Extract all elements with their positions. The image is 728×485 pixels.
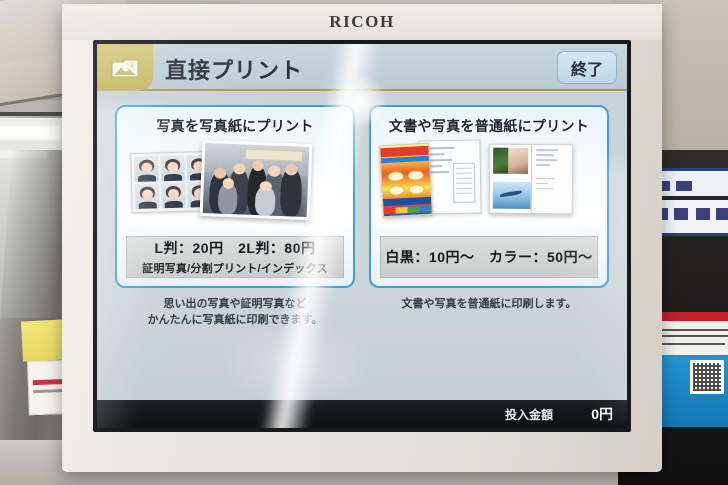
- monitor-screen-bezel: 直接プリント 終了 写真を写真紙にプリント: [93, 40, 631, 432]
- option-description-plain-paper: 文書や写真を普通紙に印刷します。: [369, 297, 609, 313]
- document-table-box: [453, 163, 476, 203]
- background-fluorescent-light: [0, 126, 60, 140]
- open-magazine-image: [489, 144, 574, 215]
- group-photo-image: [200, 140, 313, 220]
- price-secondary: 証明写真/分割プリント/インデックス: [142, 260, 327, 276]
- sign-text-line: [657, 335, 728, 337]
- touchscreen-display[interactable]: 直接プリント 終了 写真を写真紙にプリント: [97, 44, 627, 428]
- ricoh-logo: RICOH: [329, 12, 395, 32]
- id-photo-cell: [160, 156, 185, 182]
- option-title: 文書や写真を普通紙にプリント: [389, 116, 589, 136]
- option-column-photo-paper: 写真を写真紙にプリント: [115, 105, 355, 400]
- id-photo-cell: [161, 183, 186, 209]
- exit-button[interactable]: 終了: [557, 51, 617, 84]
- sign-text-line: [657, 343, 725, 345]
- photo-frame-icon: [110, 56, 140, 80]
- sign-swatch: [674, 208, 688, 220]
- option-card-photo-paper[interactable]: 写真を写真紙にプリント: [115, 105, 355, 288]
- option-description-photo-paper: 思い出の写真や証明写真など かんたんに写真紙に印刷できます。: [115, 297, 355, 329]
- app-header: 直接プリント 終了: [97, 44, 627, 91]
- sign-swatch: [676, 181, 692, 191]
- option-title: 写真を写真紙にプリント: [156, 116, 313, 136]
- inserted-amount-label: 投入金額: [505, 406, 553, 423]
- inserted-amount-value: 0円: [575, 404, 613, 424]
- description-line-1: 文書や写真を普通紙に印刷します。: [369, 297, 609, 313]
- monitor-brand-bar: RICOH: [62, 4, 662, 40]
- kiosk-monitor: RICOH 直接プリント 終了: [62, 4, 662, 472]
- id-photo-cell: [134, 156, 159, 182]
- status-bar: 投入金額 0円: [97, 400, 627, 428]
- header-icon-tab: [97, 44, 153, 91]
- sign-swatch: [716, 208, 728, 220]
- price-primary: L判：20円 2L判：80円: [154, 238, 315, 258]
- option-column-plain-paper: 文書や写真を普通紙にプリント: [369, 105, 609, 400]
- magazine-right-page: [531, 144, 574, 214]
- option-card-plain-paper[interactable]: 文書や写真を普通紙にプリント: [369, 105, 609, 288]
- description-line-1: 思い出の写真や証明写真など: [115, 297, 355, 313]
- main-options-area: 写真を写真紙にプリント: [97, 91, 627, 400]
- sign-text-line: [657, 329, 728, 331]
- option-price-box: L判：20円 2L判：80円 証明写真/分割プリント/インデックス: [126, 236, 344, 278]
- price-primary: 白黒：10円〜 カラー：50円〜: [385, 247, 592, 267]
- page-title: 直接プリント: [165, 53, 303, 85]
- description-line-2: かんたんに写真紙に印刷できます。: [115, 313, 355, 329]
- id-photo-cell: [135, 183, 160, 209]
- sign-swatch: [696, 208, 710, 220]
- magazine-left-page: [489, 144, 532, 214]
- photo-scene: スマ RICOH 直接プリント 終了: [0, 0, 728, 485]
- background-qr-code: [690, 360, 724, 394]
- color-flyer-image: [379, 143, 433, 218]
- option-price-box: 白黒：10円〜 カラー：50円〜: [380, 236, 598, 278]
